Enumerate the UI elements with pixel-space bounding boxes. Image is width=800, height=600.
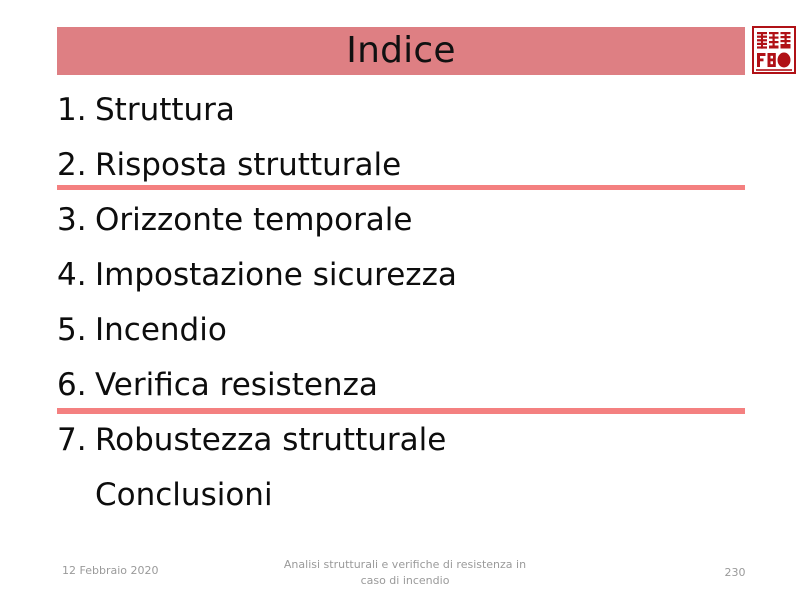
list-item-number: 5. bbox=[57, 312, 95, 348]
table-of-contents-list: 1. Struttura 2. Risposta strutturale 3. … bbox=[57, 92, 747, 532]
list-item-number: 2. bbox=[57, 147, 95, 183]
section-divider-lower bbox=[57, 408, 745, 414]
list-item: 3. Orizzonte temporale bbox=[57, 202, 747, 257]
list-item-number: 4. bbox=[57, 257, 95, 293]
list-item-label: Struttura bbox=[95, 92, 235, 128]
footer-subtitle: Analisi strutturali e verifiche di resis… bbox=[260, 557, 550, 589]
list-item-label: Orizzonte temporale bbox=[95, 202, 413, 238]
fb-seal-logo-icon bbox=[752, 26, 796, 74]
page-title: Indice bbox=[346, 33, 455, 69]
list-item-label: Robustezza strutturale bbox=[95, 422, 446, 458]
presentation-slide: Indice bbox=[0, 0, 800, 600]
list-item: 2. Risposta strutturale bbox=[57, 147, 747, 202]
list-item-number: 7. bbox=[57, 422, 95, 458]
list-item-label: Verifica resistenza bbox=[95, 367, 378, 403]
section-divider-upper bbox=[57, 185, 745, 190]
list-item: 7. Robustezza strutturale bbox=[57, 422, 747, 477]
list-item-label: Conclusioni bbox=[95, 477, 273, 513]
footer-page-number: 230 bbox=[700, 566, 770, 579]
list-item-label: Risposta strutturale bbox=[95, 147, 401, 183]
list-item-number: 1. bbox=[57, 92, 95, 128]
list-item-number: 3. bbox=[57, 202, 95, 238]
footer-subtitle-line-1: Analisi strutturali e verifiche di resis… bbox=[260, 557, 550, 573]
list-item: Conclusioni bbox=[57, 477, 747, 532]
list-item-label: Impostazione sicurezza bbox=[95, 257, 457, 293]
list-item-number: 6. bbox=[57, 367, 95, 403]
list-item: 5. Incendio bbox=[57, 312, 747, 367]
list-item-label: Incendio bbox=[95, 312, 227, 348]
list-item: 4. Impostazione sicurezza bbox=[57, 257, 747, 312]
footer-date: 12 Febbraio 2020 bbox=[62, 564, 159, 577]
slide-title-bar: Indice bbox=[57, 27, 745, 75]
footer-subtitle-line-2: caso di incendio bbox=[260, 573, 550, 589]
list-item: 1. Struttura bbox=[57, 92, 747, 147]
